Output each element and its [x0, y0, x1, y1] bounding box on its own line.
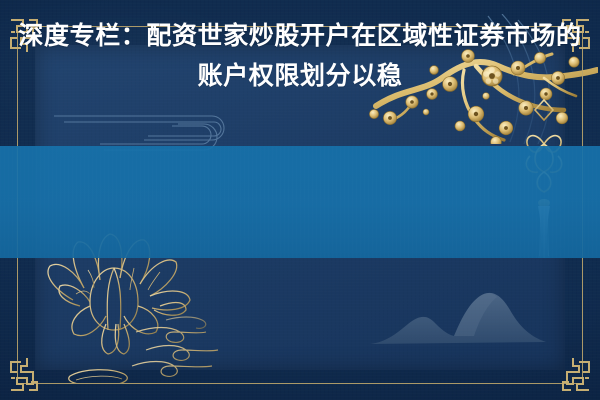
title-band: [0, 146, 600, 258]
title-line-1: 深度专栏：配资世家炒股开户在区域性证券市场的: [18, 16, 581, 56]
banner-image: 深度专栏：配资世家炒股开户在区域性证券市场的 账户权限划分以稳: [0, 0, 600, 400]
title-line-2: 账户权限划分以稳: [198, 56, 403, 96]
title-band-texture: [0, 146, 600, 258]
banner-title: 深度专栏：配资世家炒股开户在区域性证券市场的 账户权限划分以稳: [0, 0, 600, 112]
